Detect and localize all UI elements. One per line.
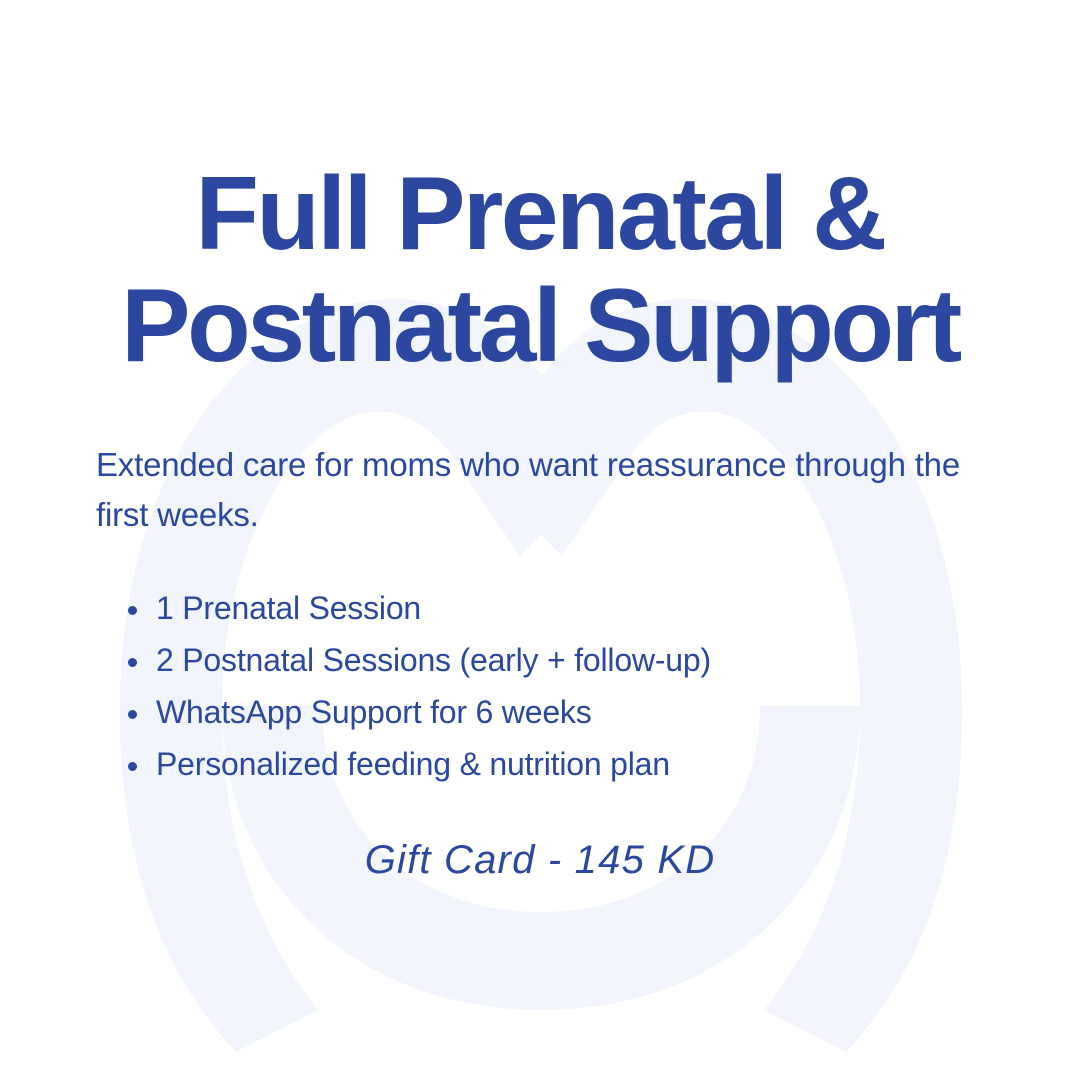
- list-item-label: Personalized feeding & nutrition plan: [156, 746, 670, 782]
- price-label: Gift Card - 145 KD: [40, 838, 1040, 883]
- list-item-label: 1 Prenatal Session: [156, 590, 421, 626]
- list-item: WhatsApp Support for 6 weeks: [128, 696, 988, 728]
- page-title-line-1: Full Prenatal &: [40, 158, 1040, 270]
- list-item: Personalized feeding & nutrition plan: [128, 748, 988, 780]
- bullet-dot-icon: [128, 710, 137, 719]
- card-content: Full Prenatal & Postnatal Support Extend…: [0, 0, 1080, 1080]
- bullet-dot-icon: [128, 606, 137, 615]
- gift-card-promo: Full Prenatal & Postnatal Support Extend…: [0, 0, 1080, 1080]
- list-item-label: 2 Postnatal Sessions (early + follow-up): [156, 642, 711, 678]
- bullet-dot-icon: [128, 762, 137, 771]
- list-item: 1 Prenatal Session: [128, 592, 988, 624]
- page-title-line-2: Postnatal Support: [40, 270, 1040, 382]
- feature-list: 1 Prenatal Session 2 Postnatal Sessions …: [128, 592, 988, 800]
- page-title: Full Prenatal & Postnatal Support: [40, 158, 1040, 383]
- subtitle-text: Extended care for moms who want reassura…: [96, 440, 976, 540]
- list-item-label: WhatsApp Support for 6 weeks: [156, 694, 592, 730]
- list-item: 2 Postnatal Sessions (early + follow-up): [128, 644, 988, 676]
- bullet-dot-icon: [128, 658, 137, 667]
